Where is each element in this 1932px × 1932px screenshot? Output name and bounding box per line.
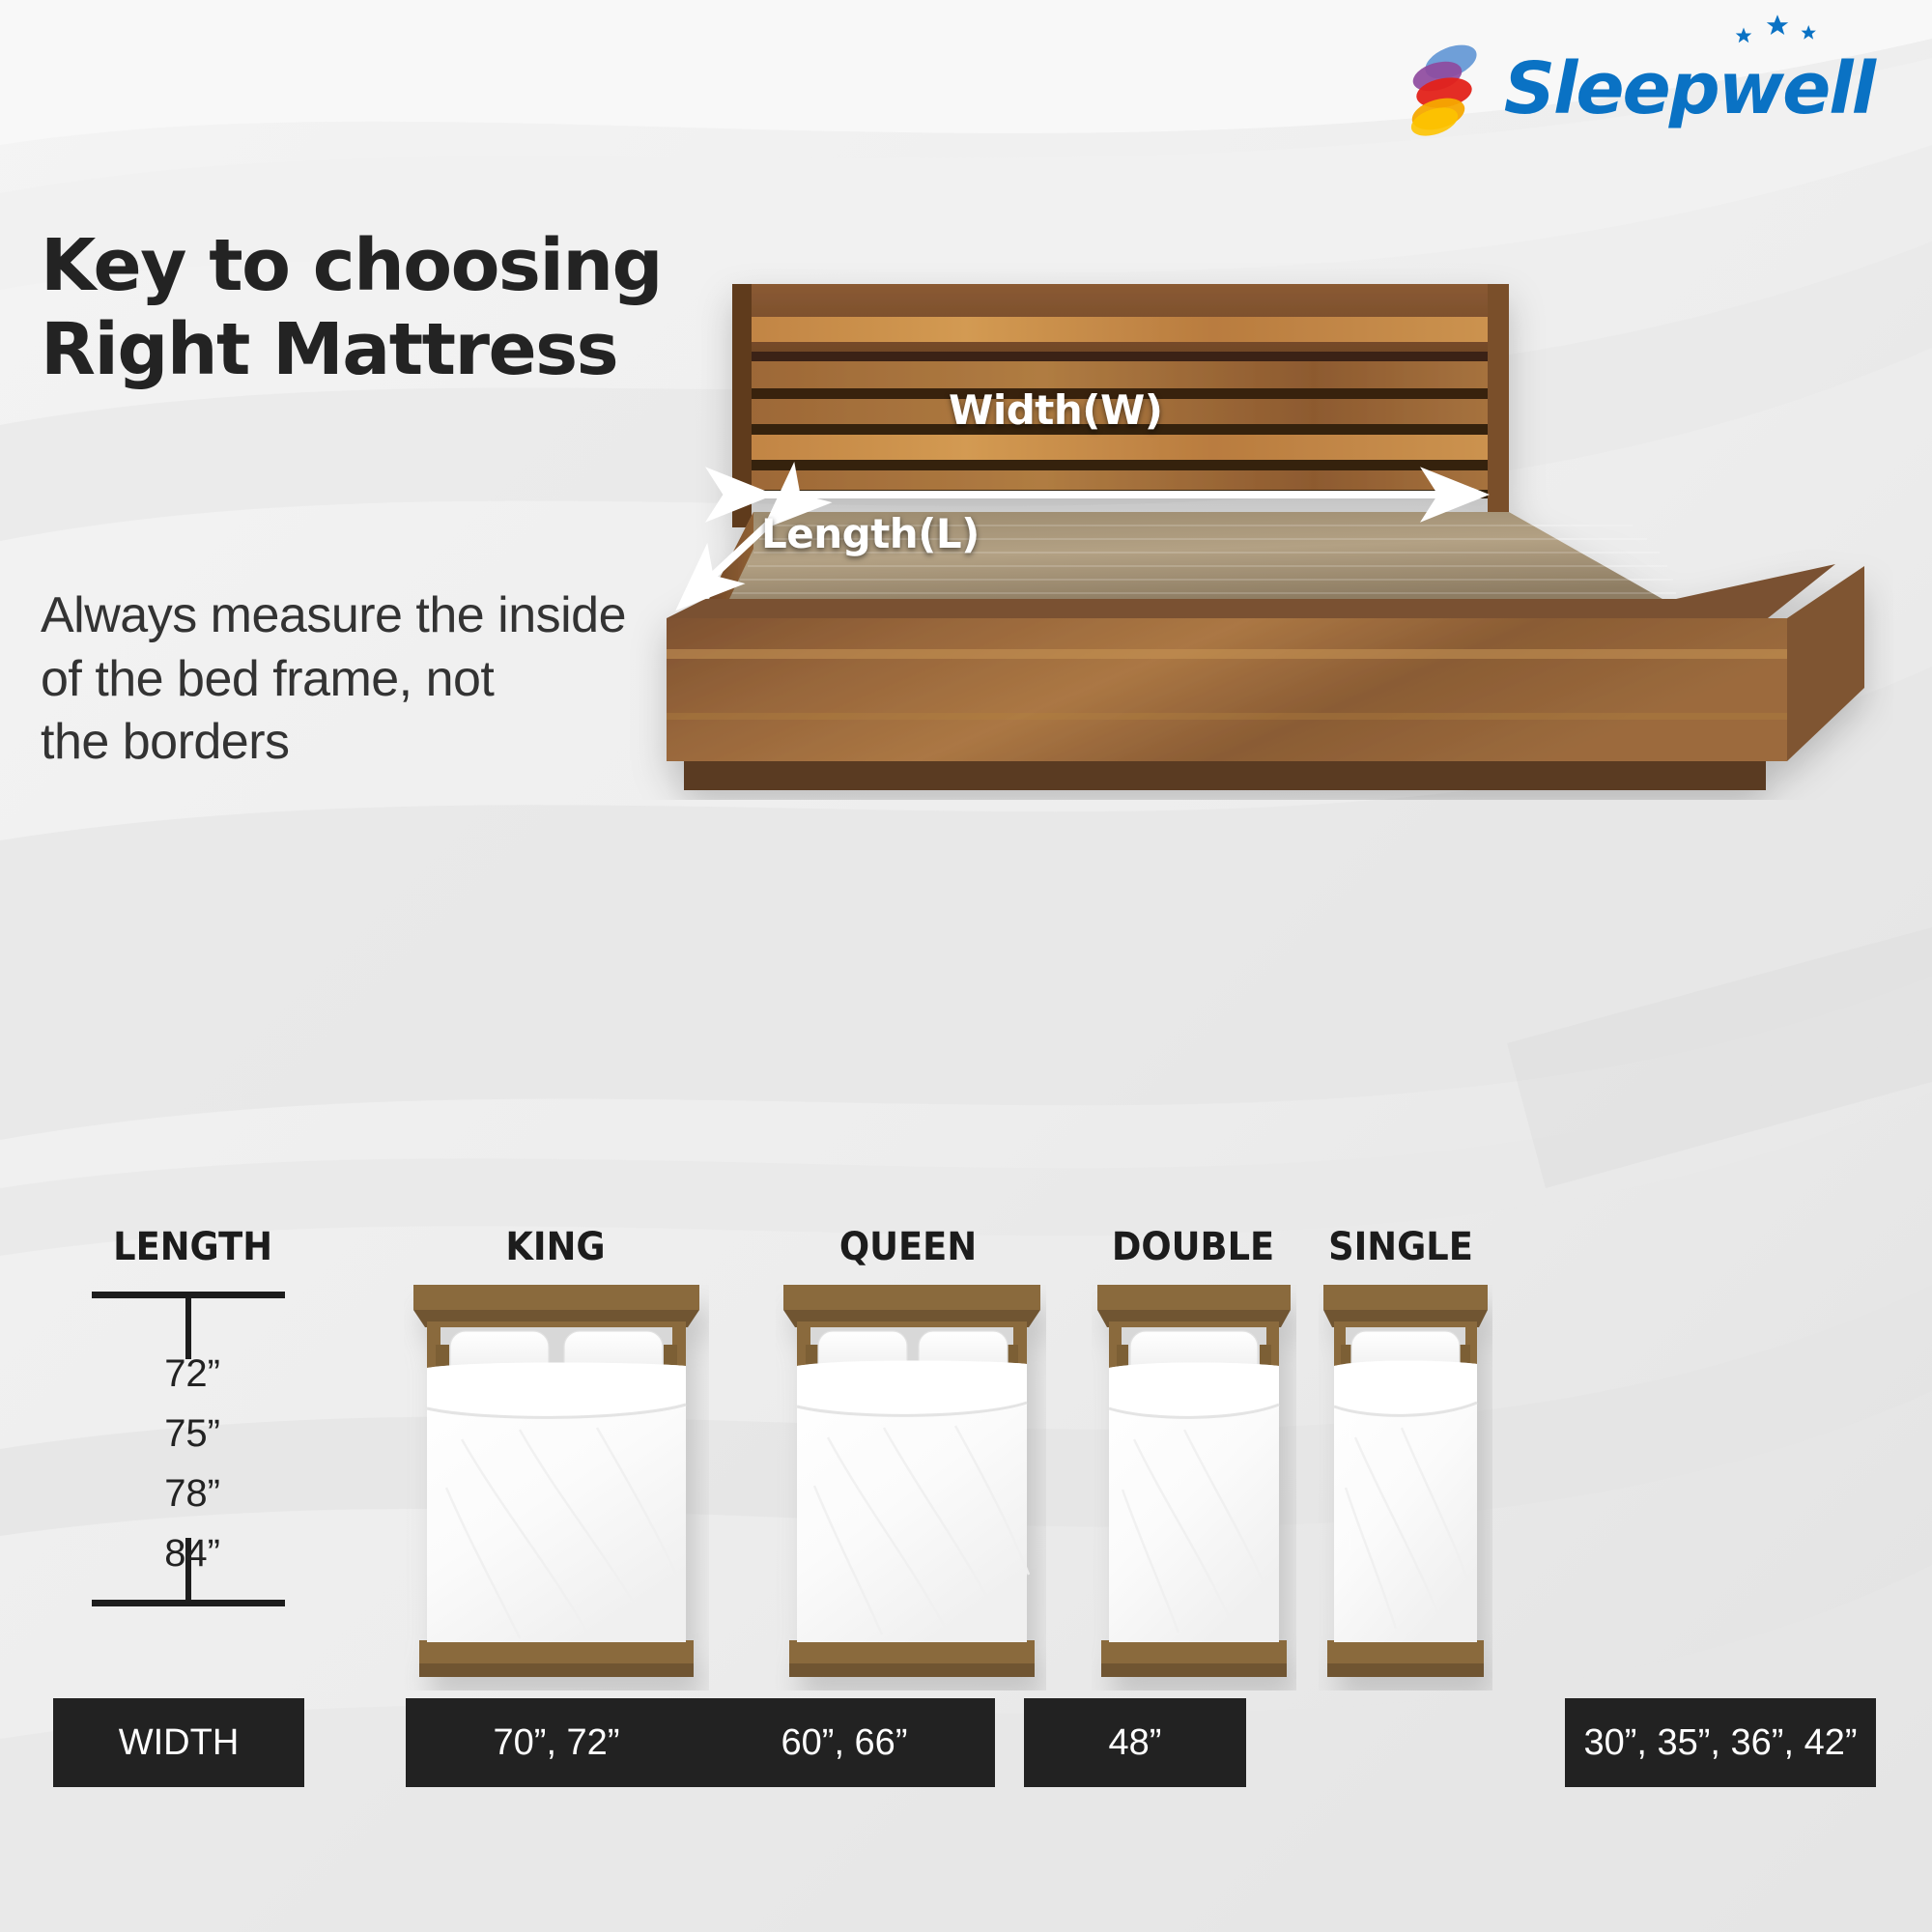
headline-line-1: Key to choosing (41, 224, 717, 308)
headline-line-2: Right Mattress (41, 308, 717, 392)
bed-figure-queen (776, 1285, 1046, 1695)
width-value-queen: 60”, 66” (781, 1722, 908, 1764)
bed-figure-king (404, 1285, 709, 1695)
width-box-king: 70”, 72” (406, 1698, 707, 1787)
width-value-king: 70”, 72” (494, 1722, 620, 1764)
length-dimension-label: Length(L) (761, 510, 980, 557)
width-box-double: 48” (1024, 1698, 1246, 1787)
column-header-single: SINGLE (1267, 1225, 1534, 1269)
page-subtitle: Always measure the inside of the bed fra… (41, 584, 659, 775)
stars-icon (1723, 12, 1839, 50)
length-scale-bottom-bar (92, 1600, 285, 1606)
subcopy-line-2: of the bed frame, not (41, 648, 659, 712)
length-scale-top-tick (185, 1292, 191, 1359)
bed-figure-double (1092, 1285, 1296, 1695)
subcopy-line-3: the borders (41, 711, 659, 775)
page-title: Key to choosing Right Mattress (41, 224, 717, 393)
width-header-label: WIDTH (119, 1722, 240, 1764)
width-value-single: 30”, 35”, 36”, 42” (1583, 1722, 1857, 1764)
width-box-single: 30”, 35”, 36”, 42” (1565, 1698, 1876, 1787)
width-dimension-label: Width(W) (949, 386, 1162, 434)
column-header-queen: QUEEN (775, 1225, 1041, 1269)
width-box-queen: 60”, 66” (694, 1698, 995, 1787)
sleepwell-swirl-icon (1407, 37, 1483, 141)
length-value-2: 78” (56, 1472, 220, 1516)
length-column-header: LENGTH (113, 1225, 272, 1269)
column-header-king: KING (422, 1225, 689, 1269)
subcopy-line-1: Always measure the inside (41, 584, 659, 648)
width-row-header-box: WIDTH (53, 1698, 304, 1787)
width-value-double: 48” (1109, 1722, 1162, 1764)
bed-figure-single (1319, 1285, 1492, 1695)
length-value-0: 72” (56, 1352, 220, 1396)
bed-frame-illustration: Width(W) Length(L) (609, 259, 1893, 800)
length-value-3: 84” (56, 1532, 220, 1576)
brand-name: Sleepwell (1504, 53, 1874, 125)
brand-logo: Sleepwell (1407, 37, 1874, 141)
length-value-1: 75” (56, 1412, 220, 1456)
